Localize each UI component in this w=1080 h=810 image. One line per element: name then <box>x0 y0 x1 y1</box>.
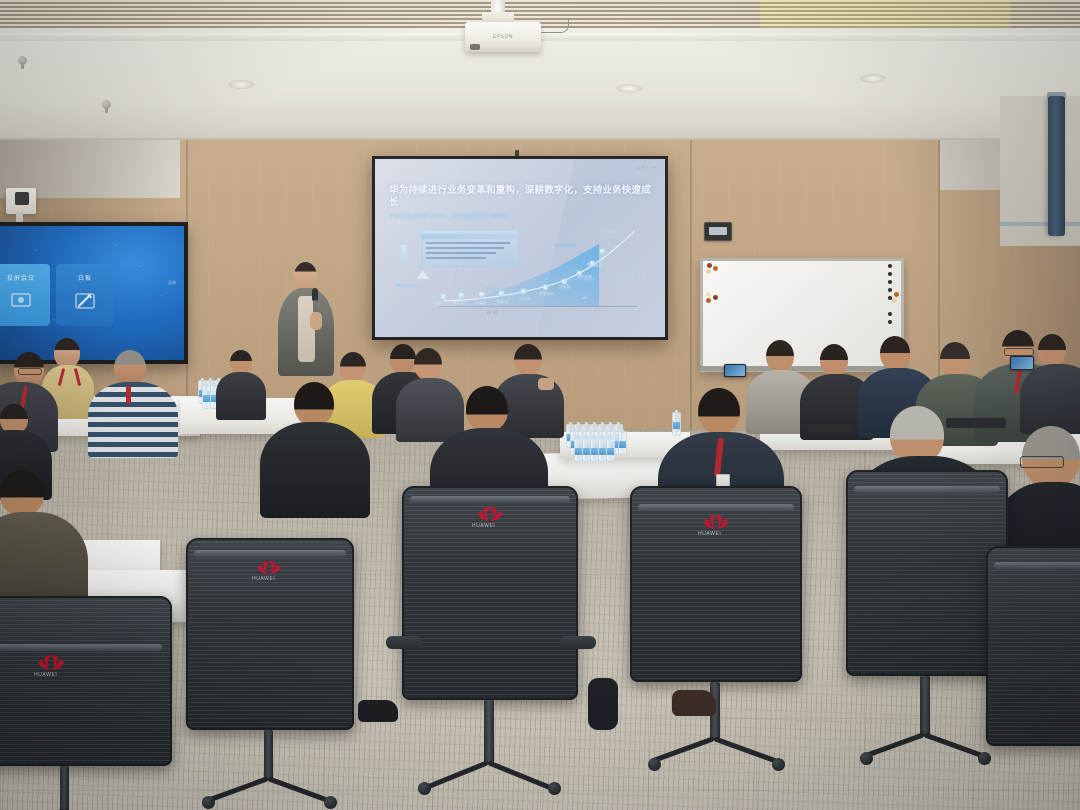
panel-tile-cast[interactable]: 投屏会议 <box>0 264 50 326</box>
person-hand <box>538 378 554 390</box>
person-head <box>340 352 366 382</box>
sprinkler-icon <box>18 56 27 65</box>
chair-backrest[interactable] <box>0 596 172 766</box>
chair-gas-lift <box>484 700 494 764</box>
chart-milestone-dot <box>600 249 605 254</box>
cast-icon <box>9 290 33 312</box>
interactive-flat-panel[interactable]: 投屏会议 白板 无线 <box>0 222 188 364</box>
magnet-icon <box>888 288 892 292</box>
person-head <box>294 382 334 426</box>
chart-annotation: 业务与IT深度融合 <box>563 277 596 283</box>
presenter <box>272 262 342 374</box>
person-head <box>880 336 910 370</box>
camera-lens-icon <box>15 192 29 205</box>
person-striped-shirt <box>88 382 178 458</box>
chart-annotation: 深耕数字化 主动变革 <box>615 273 649 284</box>
chair-lumbar-bar <box>638 504 794 511</box>
person-head <box>1038 334 1066 366</box>
person-torso <box>396 378 464 442</box>
chair-lumbar-bar <box>994 562 1080 569</box>
shoe <box>672 690 716 716</box>
control-panel-screen <box>709 227 727 235</box>
panel-screen[interactable]: 投屏会议 白板 无线 <box>0 226 184 360</box>
panel-status-text: 无线 <box>168 280 176 286</box>
wall-seam <box>690 140 692 440</box>
magnet-icon <box>713 295 718 300</box>
person-torso <box>1020 364 1080 434</box>
person-head <box>698 388 740 434</box>
chair-caster <box>548 782 561 795</box>
ceiling-light <box>860 74 886 83</box>
person-head <box>414 348 442 380</box>
laptop[interactable] <box>806 424 852 432</box>
wall-control-panel[interactable] <box>704 222 732 241</box>
trouser-leg <box>588 678 618 730</box>
phone-screen <box>725 365 745 376</box>
huawei-logo-icon <box>474 506 506 522</box>
person-torso <box>260 422 370 518</box>
projection-screen: 内部公开 华为持续进行业务变革和重构，深耕数字化，支持业务快速成长 不断夯实业务… <box>372 156 668 340</box>
magnet-icon <box>888 280 892 284</box>
chair-gas-lift <box>920 676 930 736</box>
sprinkler-icon <box>102 100 111 109</box>
person-head <box>820 344 848 376</box>
magnet-icon <box>888 272 892 276</box>
person-head <box>766 340 794 372</box>
magnet-icon <box>888 320 892 324</box>
chair-caster <box>860 752 873 765</box>
person-head <box>390 344 416 374</box>
chair-lumbar-bar <box>854 486 1000 493</box>
magnet-icon <box>706 292 711 297</box>
ceiling-light <box>228 80 254 89</box>
chair-lumbar-bar <box>0 644 162 651</box>
smartphone[interactable] <box>724 364 746 377</box>
phone-screen <box>1011 357 1033 369</box>
smartphone[interactable] <box>1010 356 1034 370</box>
person-head <box>54 338 80 368</box>
huawei-logo-icon <box>34 654 68 671</box>
chair-caster <box>772 758 785 771</box>
water-bottle <box>618 431 627 455</box>
whiteboard[interactable] <box>700 258 904 372</box>
chart-annotation: 智能化运营 <box>555 243 576 249</box>
person-head <box>114 350 146 386</box>
projector-lens-icon <box>470 44 480 50</box>
chair-backrest[interactable] <box>846 470 1008 676</box>
person-head <box>514 344 542 376</box>
magnet-icon <box>706 269 711 274</box>
lanyard <box>126 386 131 404</box>
presenter-hand <box>310 312 322 330</box>
chair-backrest[interactable] <box>986 546 1080 746</box>
chair-caster <box>202 796 215 809</box>
chart-milestone-label: 智能化 <box>559 285 570 290</box>
chair-caster <box>418 782 431 795</box>
column-speaker <box>1048 96 1065 236</box>
huawei-logo-icon <box>700 514 732 530</box>
magnet-icon <box>706 298 711 303</box>
huawei-logo-icon <box>254 560 284 575</box>
shoe <box>358 700 398 722</box>
chair-lumbar-bar <box>194 550 346 557</box>
panel-tile-label: 白板 <box>56 273 114 282</box>
chair-frame <box>846 470 1008 676</box>
chair-frame <box>0 596 172 766</box>
chair-brand-wordmark: HUAWEI <box>698 531 721 537</box>
chart-annotation: 数据驱动业务 <box>601 229 626 235</box>
chair-gas-lift <box>60 766 69 810</box>
magnet-icon <box>713 266 718 271</box>
person-head <box>466 386 508 432</box>
chair-caster <box>648 758 661 771</box>
right-wall-trim <box>1000 222 1080 226</box>
chair-brand-wordmark: HUAWEI <box>472 523 495 529</box>
chair-brand-wordmark: HUAWEI <box>34 672 57 678</box>
slide-surface: 内部公开 华为持续进行业务变革和重构，深耕数字化，支持业务快速成长 不断夯实业务… <box>375 159 665 337</box>
presenter-head <box>294 262 317 290</box>
chair-caster <box>978 752 991 765</box>
chair-lumbar-bar <box>410 496 570 503</box>
chart-milestone-label: 数智融合 <box>587 263 602 268</box>
panel-tile-whiteboard[interactable]: 白板 <box>56 264 114 326</box>
water-bottle <box>606 438 615 462</box>
magnet-icon <box>707 263 712 268</box>
whiteboard-surface[interactable] <box>703 261 901 369</box>
chair-gas-lift <box>264 730 273 780</box>
chair-brand-wordmark: HUAWEI <box>252 576 275 582</box>
glasses-icon <box>1020 456 1064 468</box>
magnet-icon <box>888 312 892 316</box>
glasses-icon <box>1004 348 1034 356</box>
laptop[interactable] <box>946 418 1006 428</box>
slide-watermark: 内部公开 <box>635 165 657 172</box>
pen-whiteboard-icon <box>73 290 97 312</box>
water-bottle <box>672 412 681 436</box>
conference-room-photo: EPSON 内部公开 华为持续进行业务变革 <box>0 0 1080 810</box>
camera-mount-arm <box>16 212 23 222</box>
person-torso <box>216 372 266 420</box>
chair-frame <box>986 546 1080 746</box>
person-head <box>940 342 970 376</box>
glasses-icon <box>18 368 42 375</box>
chair-armrest[interactable] <box>560 636 596 649</box>
projector-brand-label: EPSON <box>493 34 513 40</box>
wall-camera <box>6 188 36 214</box>
magnet-icon <box>894 292 899 297</box>
person-head <box>230 350 252 374</box>
ceiling-light <box>616 84 642 93</box>
chair-caster <box>324 796 337 809</box>
person-head <box>0 470 44 516</box>
chair-armrest[interactable] <box>386 636 422 649</box>
chart-annotation: AI <box>583 295 587 300</box>
panel-tile-label: 投屏会议 <box>0 273 50 282</box>
magnet-icon <box>888 264 892 268</box>
ceiling-soffit <box>0 100 1080 142</box>
magnet-icon <box>892 298 897 303</box>
